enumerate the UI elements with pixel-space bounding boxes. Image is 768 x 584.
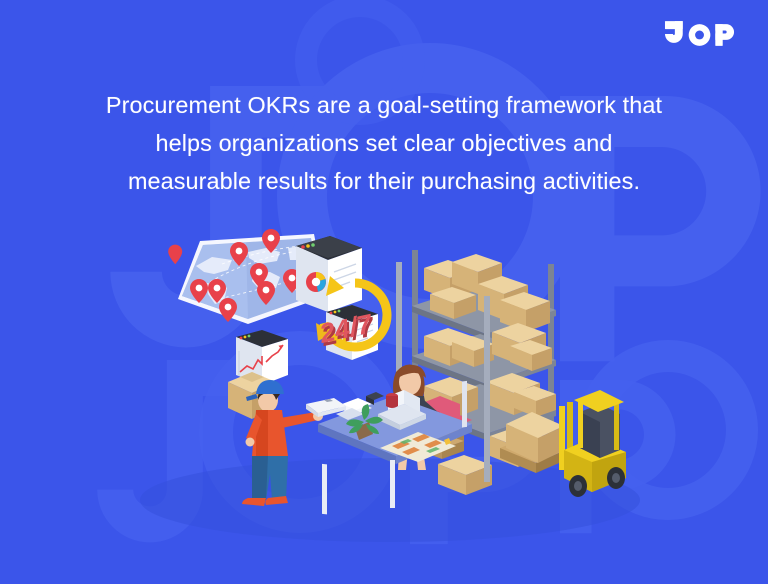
illustration-scene: 24/7 24/7 xyxy=(0,0,768,584)
mug xyxy=(386,393,398,408)
browser-card-donut-chart[interactable] xyxy=(296,236,362,312)
promo-graphic: Procurement OKRs are a goal-setting fram… xyxy=(0,0,768,584)
